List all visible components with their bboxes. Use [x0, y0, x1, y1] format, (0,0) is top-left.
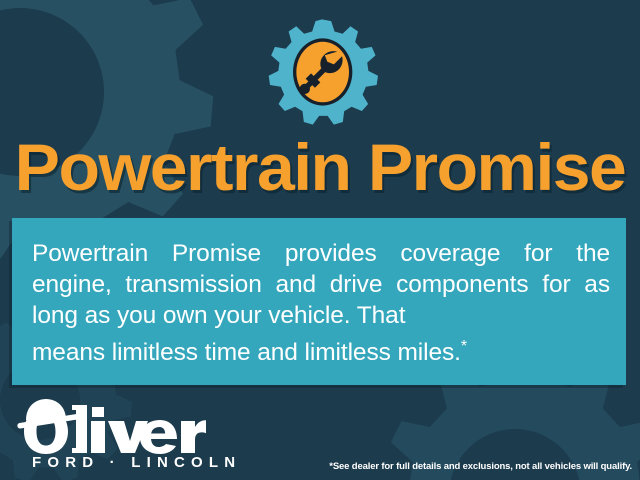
page-title: Powertrain Promise — [0, 132, 640, 202]
disclaimer-text: *See dealer for full details and exclusi… — [329, 461, 632, 472]
coverage-line-4: means limitless time and limitless miles… — [32, 331, 610, 368]
dealer-logo[interactable]: FORD · LINCOLN — [14, 398, 224, 474]
powertrain-promise-banner: Powertrain Promise Powertrain Promise pr… — [0, 0, 640, 480]
coverage-panel: Powertrain Promise provides coverage for… — [12, 218, 626, 385]
coverage-line-4-text: means limitless time and limitless miles… — [32, 339, 461, 366]
coverage-description: Powertrain Promise provides coverage for… — [32, 238, 610, 368]
coverage-line-1: Powertrain Promise provides coverage for… — [32, 240, 610, 267]
footnote-marker: * — [461, 338, 467, 355]
coverage-line-2: engine, transmission and drive component… — [32, 271, 529, 298]
dealer-logo-subtitle: FORD · LINCOLN — [32, 454, 241, 471]
gear-wrench-icon — [266, 16, 378, 128]
oliver-wordmark — [14, 398, 224, 454]
